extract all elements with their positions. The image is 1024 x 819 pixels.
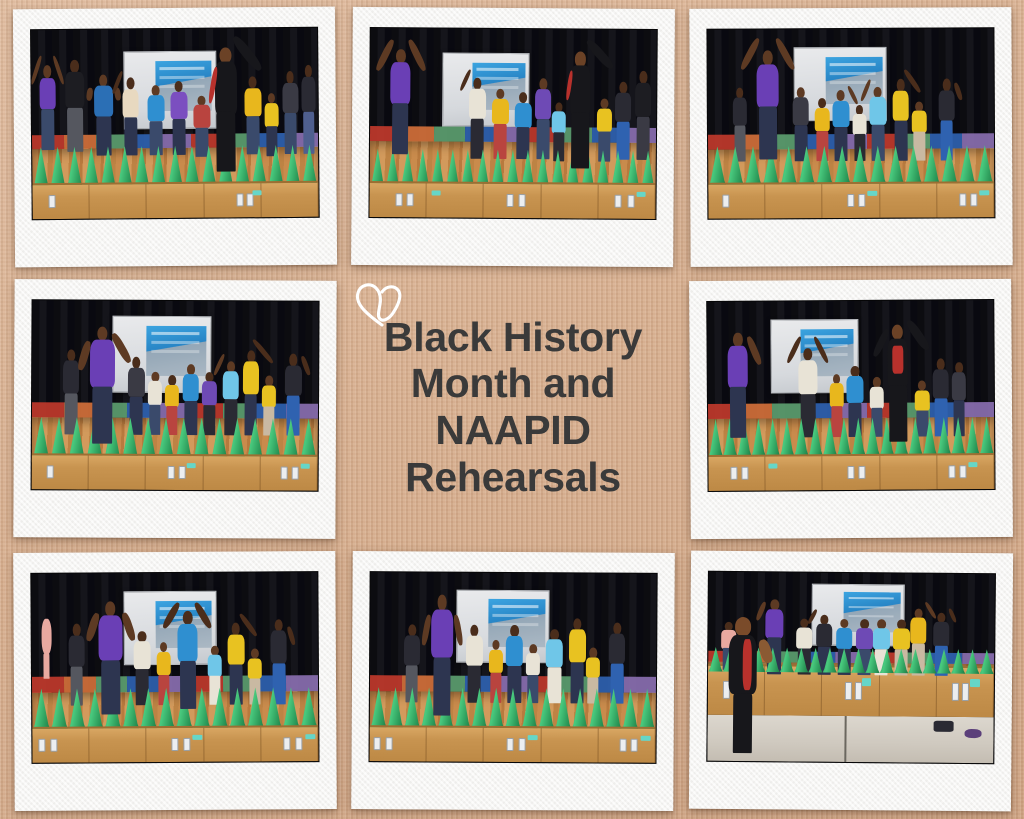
page-title: Black History Month and NAAPID Rehearsal… [384,314,642,501]
student [300,63,318,154]
student-leader-purple [427,595,456,716]
student [280,69,301,154]
photo-frame-bottom-right[interactable] [689,551,1013,812]
student [63,58,87,153]
stage-scene [32,572,318,763]
polaroid-caption-strip [689,765,1011,812]
polaroid-caption-strip [351,765,673,811]
stage-scene [32,300,318,490]
cone-row [708,145,993,186]
student [175,610,201,708]
hand-drawn-heart-icon [352,278,408,330]
stage-scene [708,571,995,762]
photo-image-5 [707,299,996,492]
photo-collage: Black History Month and NAAPID Rehearsal… [0,0,1024,819]
cone-row [370,687,655,730]
student [37,64,58,151]
polaroid-caption-strip [351,221,673,267]
student [633,69,654,160]
photo-image-8 [707,570,996,763]
photo-frame-middle-left[interactable] [13,279,336,539]
polaroid-caption-strip [690,221,1012,267]
photo-image-6 [31,571,319,764]
student [146,83,167,155]
group-leader [208,47,243,172]
stage-riser [709,453,994,491]
student [613,80,634,159]
polaroid-caption-strip [15,221,337,268]
student [92,73,116,156]
photo-image-3 [707,27,995,219]
foreground-teacher [722,617,763,753]
student [243,75,264,154]
stage-scene [370,572,656,763]
student-leader-purple [86,327,118,444]
photo-frame-middle-right[interactable] [689,279,1013,539]
polaroid-caption-strip [13,493,335,539]
student [169,79,190,155]
red-scarf [743,639,752,691]
student [120,76,141,155]
photo-image-4 [31,299,319,491]
student [467,76,488,159]
title-panel: Black History Month and NAAPID Rehearsal… [348,276,678,538]
student [490,87,510,159]
polaroid-caption-strip [691,493,1013,539]
photo-frame-top-left[interactable] [13,7,337,268]
floor-seam [845,716,847,761]
stage-scene [370,28,657,219]
stage-riser [370,181,655,219]
photo-frame-top-right[interactable] [689,7,1012,267]
photo-frame-bottom-center[interactable] [351,551,675,811]
stage-riser [33,725,318,763]
photo-frame-top-center[interactable] [351,7,675,267]
photo-image-2 [369,27,658,220]
floor-prop-case [965,729,982,739]
stage-riser [32,453,317,490]
floor-prop-bag [933,721,953,733]
stage-scene [708,28,994,218]
stage-scene [708,300,995,491]
stage-scene [31,27,318,218]
student [38,619,55,680]
photo-image-7 [369,571,657,764]
group-leader [564,52,596,169]
photo-image-1 [30,26,319,219]
stage-riser [370,725,655,763]
polaroid-caption-strip [15,765,337,811]
photo-frame-bottom-left[interactable] [13,551,337,811]
student-leader-purple [725,332,751,438]
stage-riser [33,180,319,218]
student-leader-purple [387,49,413,155]
group-leader [882,325,914,442]
student-leader-purple [754,50,783,160]
stage-riser [709,181,994,218]
student-leader-purple [95,601,127,715]
